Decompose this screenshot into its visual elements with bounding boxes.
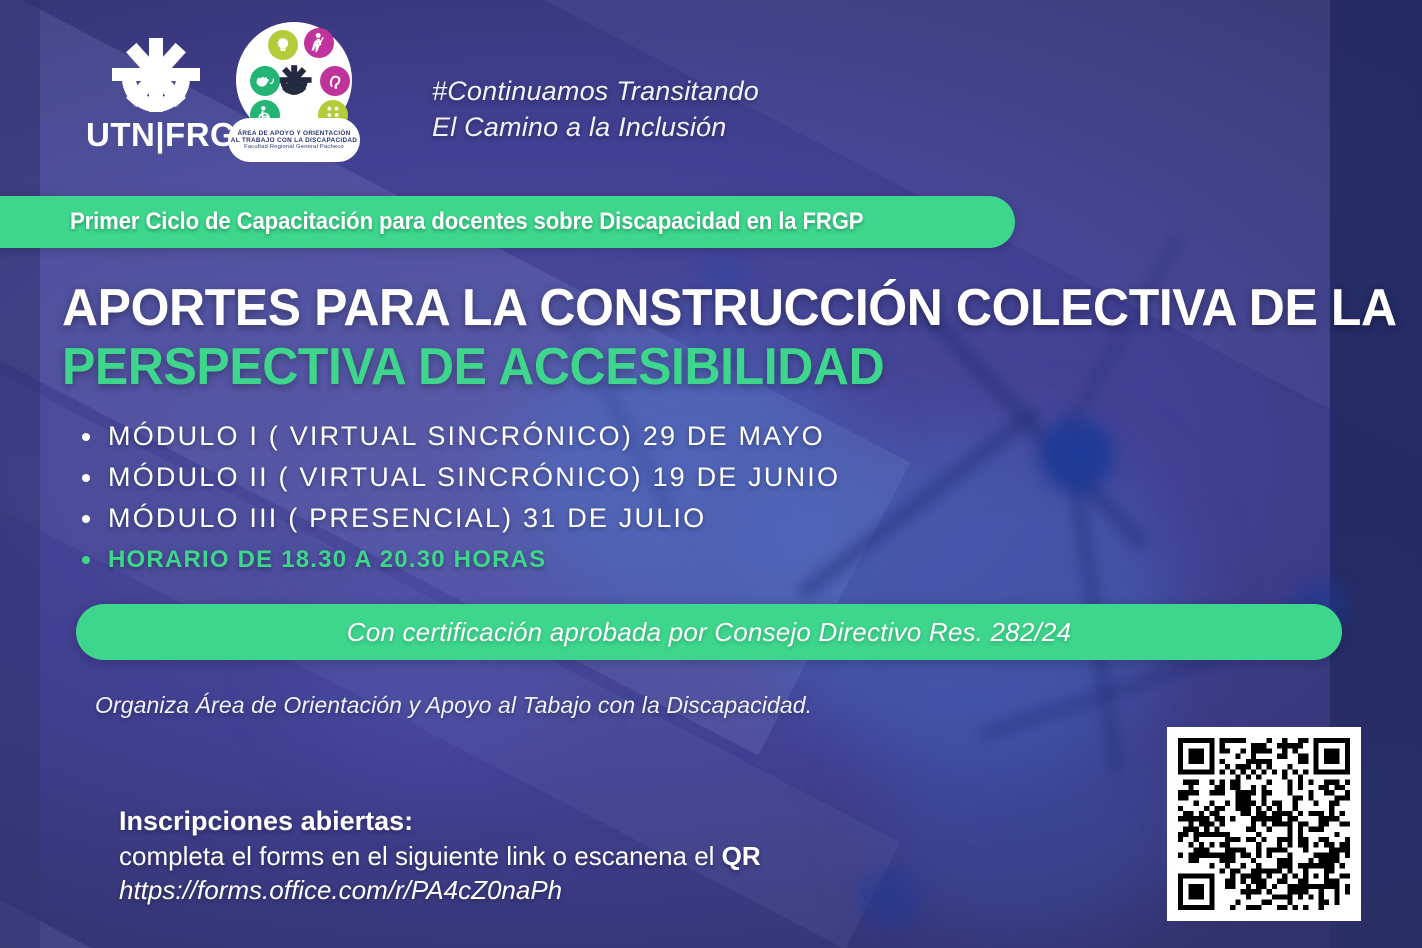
hashtag-line-2: El Camino a la Inclusión — [432, 110, 759, 146]
course-series-banner-text: Primer Ciclo de Capacitación para docent… — [70, 208, 863, 236]
poster-canvas: UTN|FRGP — [0, 0, 1422, 948]
bullet-dot-icon — [82, 433, 90, 441]
schedule-label: HORARIO DE 18.30 A 20.30 HORAS — [108, 546, 546, 574]
module-label: MÓDULO III ( PRESENCIAL) 31 DE JULIO — [108, 503, 706, 534]
bg-blob-4 — [300, 560, 560, 780]
registration-qr-word: QR — [722, 841, 761, 871]
diagonal-band-4 — [0, 900, 1008, 948]
area-center-utn-icon — [274, 58, 314, 102]
registration-instruction: completa el forms en el siguiente link o… — [119, 841, 761, 872]
cognitive-disability-icon — [268, 30, 298, 60]
area-logo-line2: AL TRABAJO CON LA DISCAPACIDAD — [231, 137, 357, 144]
network-node-1 — [1040, 418, 1114, 492]
poster-title-line-2: PERSPECTIVA DE ACCESIBILIDAD — [62, 337, 884, 397]
utn-logo: UTN|FRGP — [86, 38, 226, 150]
course-series-banner: Primer Ciclo de Capacitación para docent… — [0, 196, 1015, 248]
list-item-schedule: HORARIO DE 18.30 A 20.30 HORAS — [82, 539, 982, 580]
registration-url[interactable]: https://forms.office.com/r/PA4cZ0naPh — [119, 875, 761, 906]
module-list: MÓDULO I ( VIRTUAL SINCRÓNICO) 29 DE MAY… — [82, 416, 982, 580]
registration-heading: Inscripciones abiertas: — [119, 806, 761, 837]
utn-sun-mark-icon — [106, 38, 206, 112]
registration-instruction-prefix: completa el forms en el siguiente link o… — [119, 841, 722, 871]
area-logo: ÁREA DE APOYO Y ORIENTACIÓN AL TRABAJO C… — [228, 22, 360, 162]
hearing-loop-icon — [320, 66, 350, 96]
network-node-3 — [858, 868, 920, 930]
poster-title-line-1: APORTES PARA LA CONSTRUCCIÓN COLECTIVA D… — [62, 278, 1397, 338]
bullet-dot-icon — [82, 556, 90, 564]
area-logo-line1: ÁREA DE APOYO Y ORIENTACIÓN — [237, 130, 350, 137]
bullet-dot-icon — [82, 474, 90, 482]
list-item: MÓDULO II ( VIRTUAL SINCRÓNICO) 19 DE JU… — [82, 457, 982, 498]
bg-blob-3 — [880, 700, 1180, 940]
module-label: MÓDULO II ( VIRTUAL SINCRÓNICO) 19 DE JU… — [108, 462, 840, 493]
list-item: MÓDULO I ( VIRTUAL SINCRÓNICO) 29 DE MAY… — [82, 416, 982, 457]
hashtag-line-1: #Continuamos Transitando — [432, 74, 759, 110]
qr-code[interactable] — [1167, 727, 1361, 921]
sign-language-icon — [250, 66, 280, 96]
bullet-dot-icon — [82, 515, 90, 523]
certification-text: Con certificación aprobada por Consejo D… — [347, 617, 1072, 648]
organizer-text: Organiza Área de Orientación y Apoyo al … — [95, 692, 812, 719]
module-label: MÓDULO I ( VIRTUAL SINCRÓNICO) 29 DE MAY… — [108, 421, 825, 452]
list-item: MÓDULO III ( PRESENCIAL) 31 DE JULIO — [82, 498, 982, 539]
certification-pill: Con certificación aprobada por Consejo D… — [76, 604, 1342, 660]
utn-wordmark: UTN|FRGP — [86, 116, 226, 154]
poster-header: UTN|FRGP — [0, 0, 1422, 190]
registration-block: Inscripciones abiertas: completa el form… — [119, 806, 761, 906]
area-logo-plate: ÁREA DE APOYO Y ORIENTACIÓN AL TRABAJO C… — [228, 118, 360, 162]
area-logo-line3: Facultad Regional General Pacheco — [244, 144, 344, 150]
blind-cane-icon — [304, 28, 334, 58]
hashtag-slogan: #Continuamos Transitando El Camino a la … — [432, 74, 759, 145]
